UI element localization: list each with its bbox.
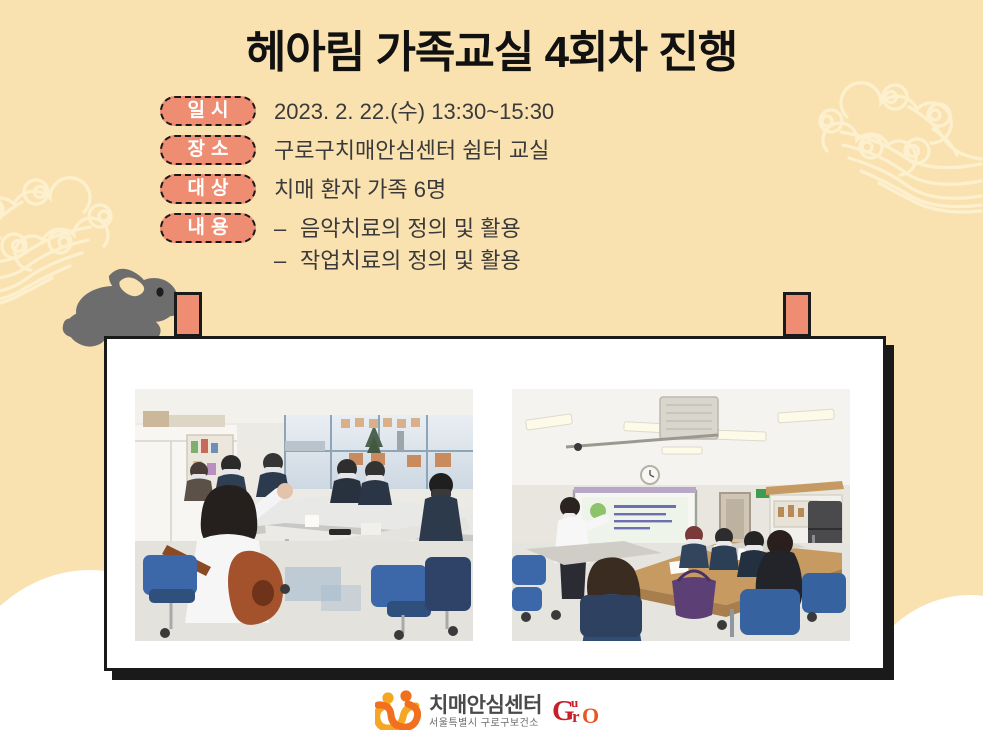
badge-target: 대상: [160, 174, 256, 204]
photo-music-therapy: [135, 389, 473, 641]
info-row-date: 일시 2023. 2. 22.(수) 13:30~15:30: [160, 96, 860, 127]
svg-text:O: O: [582, 703, 599, 727]
content-item-2-label: 작업치료의 정의 및 활용: [300, 248, 521, 273]
info-row-place: 장소 구로구치매안심센터 쉼터 교실: [160, 135, 860, 166]
info-block: 일시 2023. 2. 22.(수) 13:30~15:30 장소 구로구치매안…: [160, 96, 860, 285]
badge-place: 장소: [160, 135, 256, 165]
badge-content: 내용: [160, 213, 256, 243]
info-value-target: 치매 환자 가족 6명: [274, 174, 446, 205]
panel-tab-left: [174, 292, 202, 337]
logo-title: 치매안심센터: [429, 695, 542, 717]
bullet-dash-icon-2: –: [274, 245, 300, 277]
content-item-1: –음악치료의 정의 및 활용: [274, 213, 521, 245]
photo-occupational-therapy: [512, 389, 850, 641]
info-value-content: –음악치료의 정의 및 활용 –작업치료의 정의 및 활용: [274, 213, 521, 277]
logo-text-block: 치매안심센터 서울특별시 구로구보건소: [429, 695, 542, 731]
info-value-place: 구로구치매안심센터 쉼터 교실: [274, 135, 549, 166]
guro-wordmark-icon: G u r O: [552, 693, 608, 732]
logo-subtitle: 서울특별시 구로구보건소: [429, 717, 542, 731]
badge-date: 일시: [160, 96, 256, 126]
content-item-2: –작업치료의 정의 및 활용: [274, 245, 521, 277]
dementia-center-symbol-icon: [375, 690, 421, 735]
info-value-date: 2023. 2. 22.(수) 13:30~15:30: [274, 96, 554, 127]
info-row-target: 대상 치매 환자 가족 6명: [160, 174, 860, 205]
bullet-dash-icon: –: [274, 213, 300, 245]
page-title: 헤아림 가족교실 4회차 진행: [0, 16, 983, 80]
content-item-1-label: 음악치료의 정의 및 활용: [300, 216, 521, 241]
panel-tab-right: [783, 292, 811, 337]
svg-text:r: r: [572, 707, 580, 726]
footer-logo: 치매안심센터 서울특별시 구로구보건소 G u r O: [0, 690, 983, 735]
info-row-content: 내용 –음악치료의 정의 및 활용 –작업치료의 정의 및 활용: [160, 213, 860, 277]
poster-canvas: 헤아림 가족교실 4회차 진행 일시 2023. 2. 22.(수) 13:30…: [0, 0, 983, 737]
